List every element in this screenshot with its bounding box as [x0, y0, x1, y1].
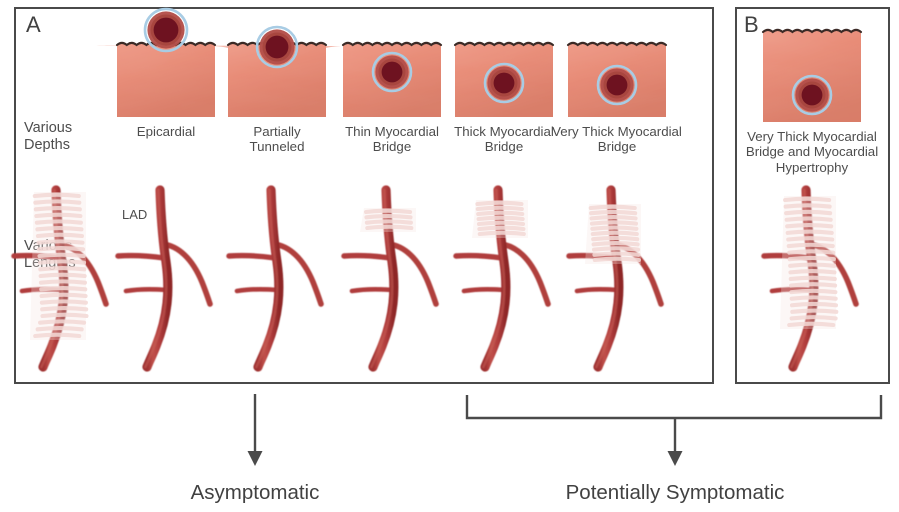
outcome-connectors [0, 0, 899, 512]
arrow-asymptomatic [248, 394, 263, 466]
figure-root: A B Various Depths Various Lengths Epica… [0, 0, 899, 512]
outcome-label-asymptomatic: Asymptomatic [191, 481, 320, 505]
bracket-potentially-symptomatic [467, 395, 881, 418]
outcome-label-potentially-symptomatic: Potentially Symptomatic [566, 481, 785, 505]
arrow-potentially-symptomatic [668, 418, 683, 466]
